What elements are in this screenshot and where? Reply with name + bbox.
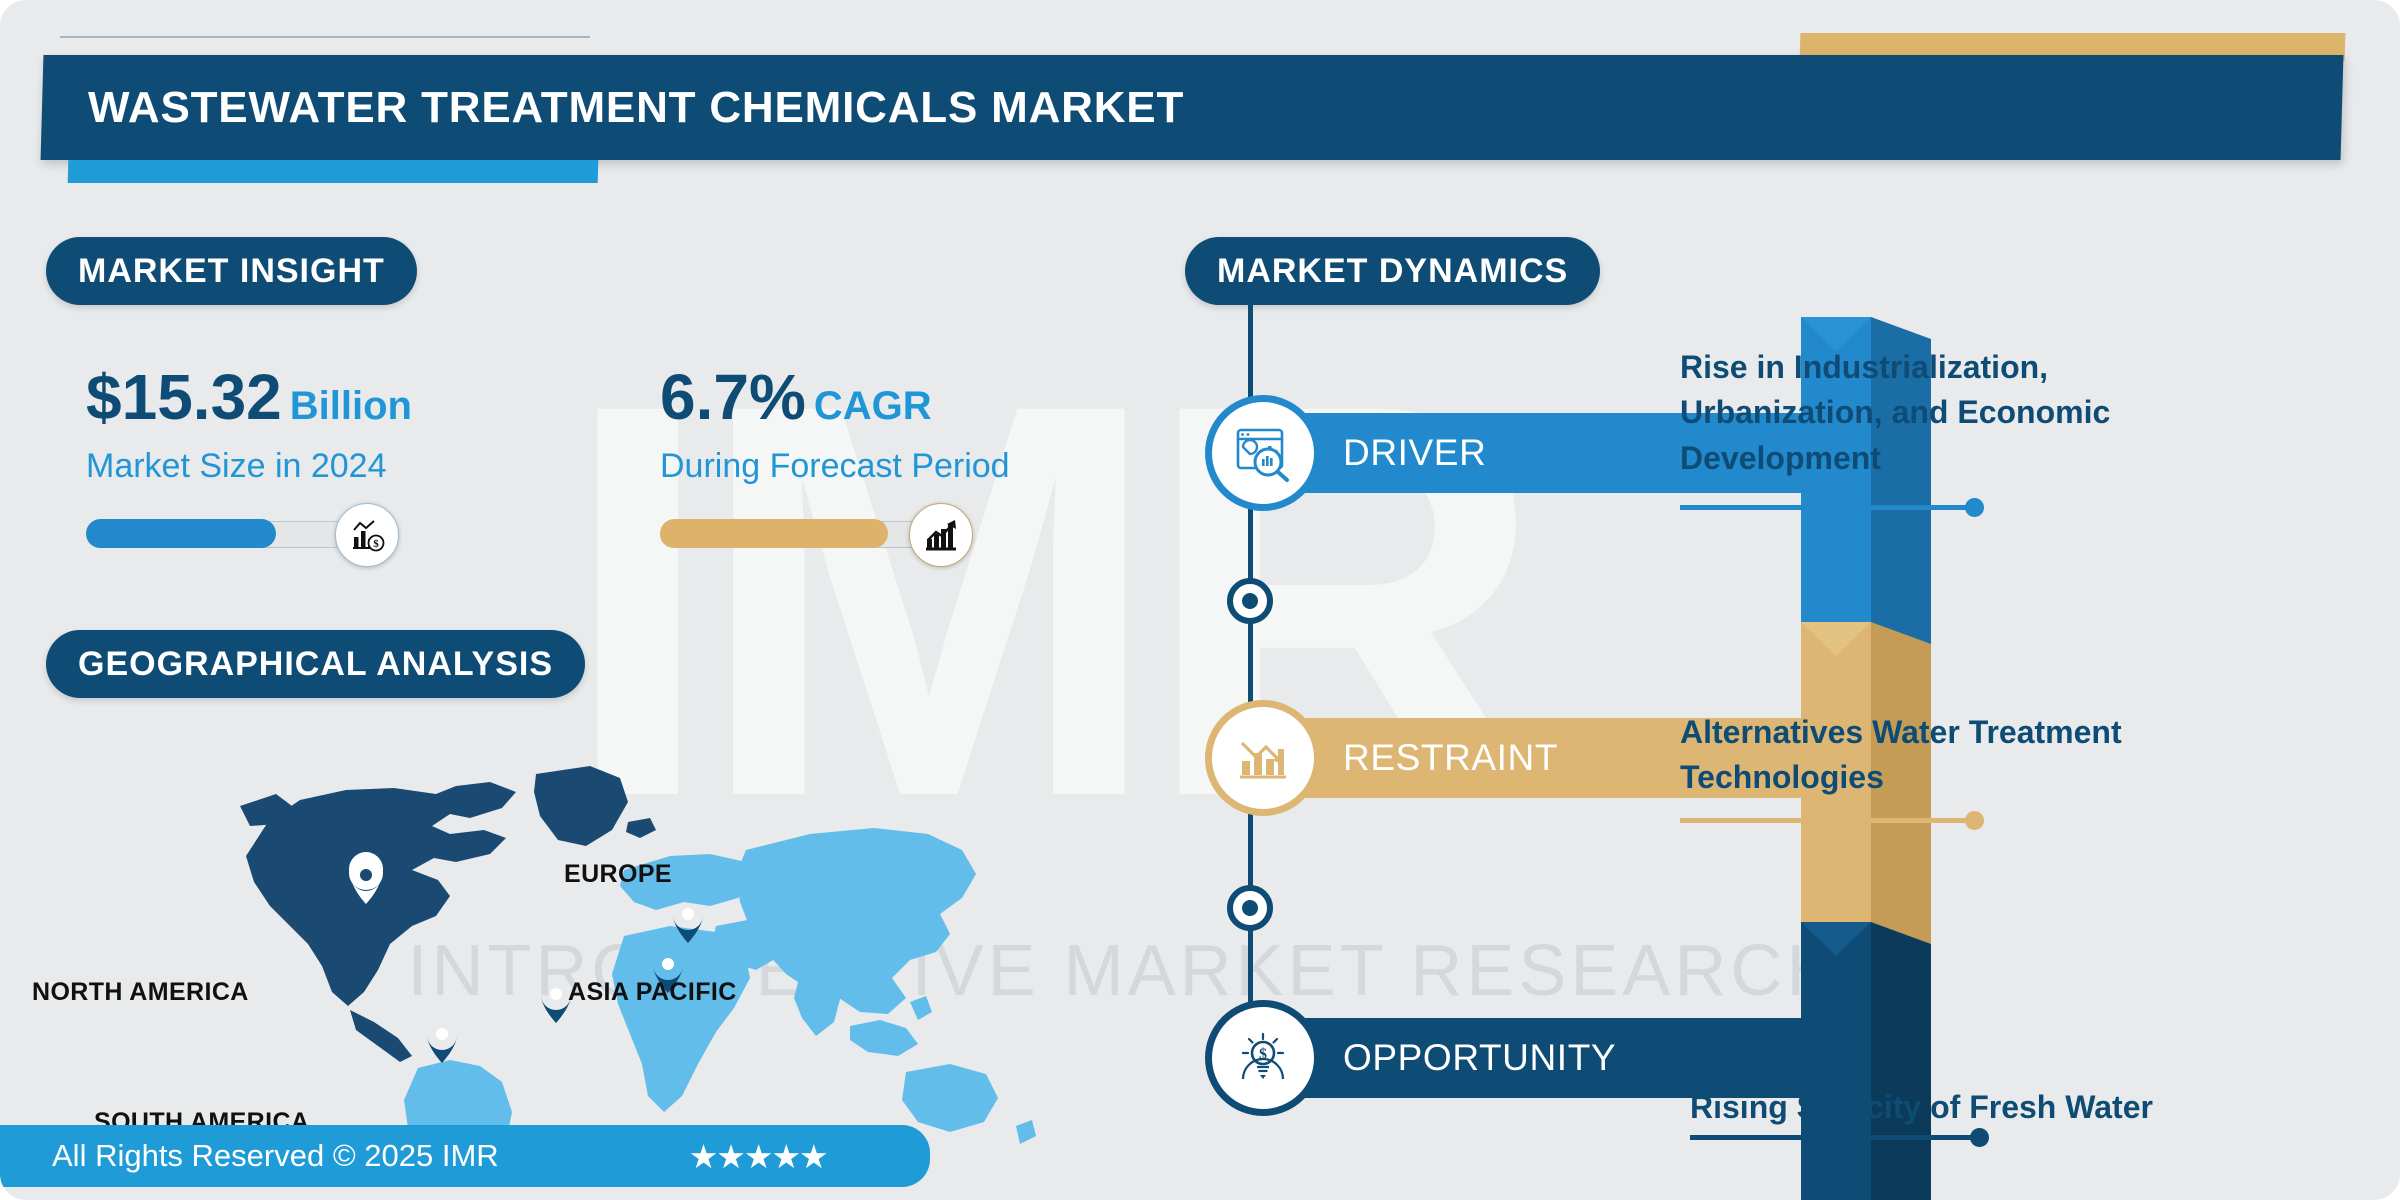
- declining-chart-icon: [1205, 700, 1321, 816]
- kpi-cagr-caption: During Forecast Period: [660, 447, 1010, 486]
- map-greenland: [534, 766, 628, 846]
- driver-label: DRIVER: [1343, 413, 1486, 493]
- footer-bar: All Rights Reserved © 2025 IMR ★★★★★: [0, 1125, 930, 1187]
- kpi-market-size: $15.32Billion Market Size in 2024 $: [86, 365, 412, 550]
- svg-text:$: $: [1259, 1046, 1267, 1063]
- opportunity-leader-line: [1690, 1135, 1980, 1140]
- driver-leader-line: [1680, 505, 1975, 510]
- kpi-cagr-unit: CAGR: [814, 384, 932, 428]
- map-philippines: [910, 996, 932, 1020]
- map-label-asia-pacific: ASIA PACIFIC: [568, 978, 737, 1007]
- market-size-progress: $: [86, 516, 396, 550]
- map-continents: [240, 766, 1036, 1150]
- map-pin-middle-east-africa: [541, 988, 571, 1023]
- growth-arrow-chart-icon: [909, 503, 973, 567]
- market-dynamics-heading: MARKET DYNAMICS: [1185, 237, 1600, 305]
- page-title: WASTEWATER TREATMENT CHEMICALS MARKET: [88, 55, 1184, 160]
- timeline-node-2: [1227, 885, 1273, 931]
- driver-description: Rise in Industrialization, Urbanization,…: [1680, 345, 2240, 481]
- lightbulb-dollar-icon: $: [1205, 1000, 1321, 1116]
- restraint-description: Alternatives Water Treatment Technologie…: [1680, 710, 2240, 801]
- world-map: NORTH AMERICA EUROPE ASIA PACIFIC SOUTH …: [150, 730, 1050, 1150]
- map-australia: [902, 1064, 998, 1132]
- footer-copyright: All Rights Reserved © 2025 IMR: [52, 1138, 499, 1174]
- header-blue-accent-bar: [68, 160, 599, 183]
- header-thin-rule: [60, 36, 590, 38]
- svg-text:$: $: [373, 538, 379, 550]
- kpi-market-size-value: $15.32: [86, 361, 282, 433]
- opportunity-label: OPPORTUNITY: [1343, 1018, 1616, 1098]
- opportunity-description: Rising Scarcity of Fresh Water: [1690, 1085, 2250, 1130]
- world-map-svg: [150, 730, 1050, 1150]
- map-southeast-asia: [850, 1020, 918, 1056]
- kpi-market-size-unit: Billion: [290, 384, 412, 428]
- map-central-america: [350, 1010, 412, 1062]
- bar-chart-dollar-icon: $: [335, 503, 399, 567]
- restraint-label: RESTRAINT: [1343, 718, 1558, 798]
- map-india: [794, 978, 842, 1036]
- cagr-progress: [660, 516, 970, 550]
- kpi-market-size-caption: Market Size in 2024: [86, 447, 412, 486]
- cagr-progress-fill: [660, 519, 888, 548]
- data-analysis-search-icon: [1205, 395, 1321, 511]
- restraint-leader-line: [1680, 818, 1975, 823]
- map-north-america: [246, 782, 516, 1006]
- map-label-north-america: NORTH AMERICA: [32, 978, 249, 1007]
- market-insight-heading: MARKET INSIGHT: [46, 237, 417, 305]
- kpi-cagr-value-row: 6.7%CAGR: [660, 365, 1010, 429]
- kpi-cagr-value: 6.7%: [660, 361, 806, 433]
- geographical-analysis-heading: GEOGRAPHICAL ANALYSIS: [46, 630, 585, 698]
- kpi-market-size-value-row: $15.32Billion: [86, 365, 412, 429]
- infographic-canvas: IMR INTROSPECTIVE MARKET RESEARCH WASTEW…: [0, 0, 2400, 1200]
- map-iceland: [626, 818, 656, 838]
- footer-star-rating: ★★★★★: [689, 1137, 827, 1176]
- map-asia: [736, 828, 976, 1014]
- market-size-progress-fill: [86, 519, 276, 548]
- map-africa: [612, 926, 750, 1112]
- timeline-node-1: [1227, 578, 1273, 624]
- map-new-zealand: [1016, 1120, 1036, 1144]
- map-label-europe: EUROPE: [564, 860, 672, 889]
- kpi-cagr: 6.7%CAGR During Forecast Period: [660, 365, 1010, 550]
- map-pin-south-america: [427, 1028, 457, 1063]
